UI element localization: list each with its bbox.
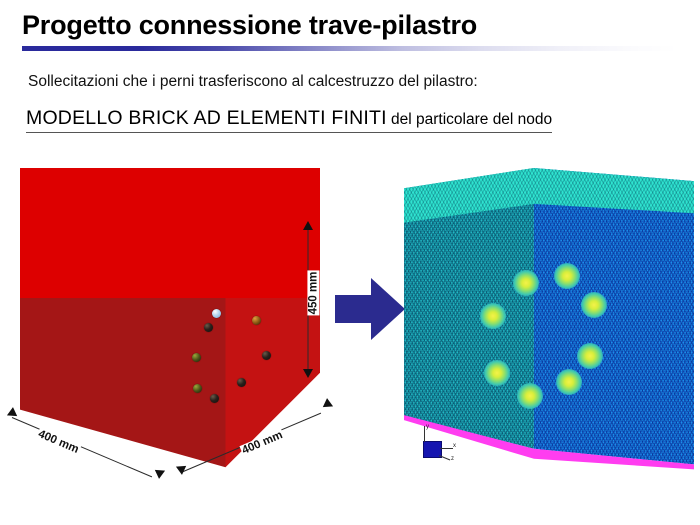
triad-z-label: z: [451, 456, 454, 462]
headline-rest: del particolare del nodo: [387, 111, 552, 128]
bolt-5: [192, 353, 201, 362]
bolt-4: [262, 351, 271, 360]
triad-x-label: x: [453, 443, 456, 449]
bolt-1: [212, 309, 221, 318]
subtitle-text: Sollecitazioni che i perni trasferiscono…: [28, 73, 478, 91]
dimension-height-label: 450 mm: [307, 271, 319, 316]
triad-y-axis: [424, 426, 425, 442]
bolt-3: [204, 323, 213, 332]
arrow-head: [371, 278, 405, 340]
title-underline-rule: [22, 46, 678, 51]
arrow-shaft: [335, 295, 375, 323]
triad-y-label: y: [426, 424, 429, 430]
page-title: Progetto connessione trave-pilastro: [22, 10, 477, 41]
bolt-2: [252, 316, 261, 325]
right-arrow-icon: [335, 278, 405, 340]
slide-canvas: Progetto connessione trave-pilastro Soll…: [0, 0, 700, 525]
bolt-8: [210, 394, 219, 403]
axis-triad-icon: y x z: [415, 424, 465, 472]
headline: MODELLO BRICK AD ELEMENTI FINITI del par…: [26, 108, 552, 133]
bolt-6: [237, 378, 246, 387]
headline-emphasis: MODELLO BRICK AD ELEMENTI FINITI: [26, 107, 387, 129]
bolt-7: [193, 384, 202, 393]
triad-x-axis: [440, 448, 453, 449]
block-top-face: [20, 168, 320, 298]
